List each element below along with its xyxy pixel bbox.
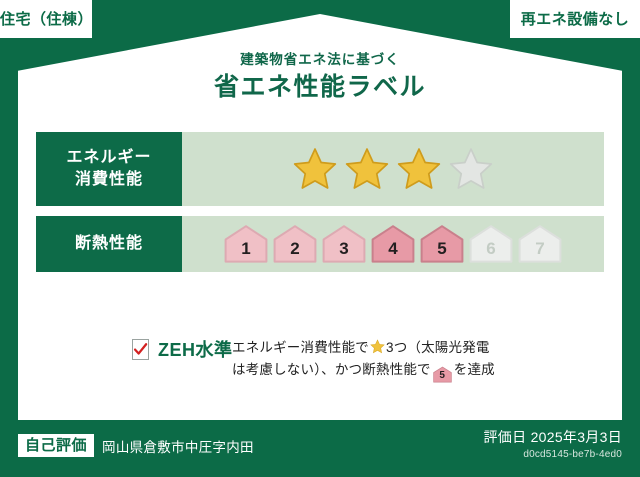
metric-rows: エネルギー 消費性能 断熱性能 1234567 bbox=[36, 132, 604, 282]
insulation-level-number: 7 bbox=[535, 240, 544, 264]
row-energy-value bbox=[182, 132, 604, 206]
insulation-level-1: 1 bbox=[224, 224, 268, 264]
row-insulation-value: 1234567 bbox=[182, 216, 604, 272]
row-energy-label-line2: 消費性能 bbox=[75, 169, 143, 191]
insulation-level-scale: 1234567 bbox=[224, 224, 562, 264]
insulation-level-7: 7 bbox=[518, 224, 562, 264]
row-insulation-label-line1: 断熱性能 bbox=[75, 233, 143, 255]
evaluation-date-value: 2025年3月3日 bbox=[531, 429, 622, 445]
check-icon bbox=[133, 342, 148, 357]
page-title: 省エネ性能ラベル bbox=[18, 74, 622, 102]
zeh-description: エネルギー消費性能で3つ（太陽光発電は考慮しない）、かつ断熱性能で5を達成 bbox=[232, 336, 495, 383]
zeh-section: ZEH水準 エネルギー消費性能で3つ（太陽光発電は考慮しない）、かつ断熱性能で5… bbox=[36, 336, 604, 383]
star-icon-filled bbox=[292, 146, 338, 192]
insulation-level-number: 3 bbox=[339, 240, 348, 264]
row-insulation-label: 断熱性能 bbox=[36, 216, 182, 272]
zeh-label: ZEH水準 bbox=[158, 336, 233, 362]
star-icon-inline bbox=[370, 339, 385, 354]
title-block: 建築物省エネ法に基づく 省エネ性能ラベル bbox=[18, 52, 622, 102]
zeh-desc-part1: エネルギー消費性能で bbox=[232, 340, 369, 355]
zeh-desc-part3: を達成 bbox=[454, 362, 495, 377]
badge-renewable-energy: 再エネ設備なし bbox=[510, 0, 640, 38]
title-subtitle: 建築物省エネ法に基づく bbox=[18, 52, 622, 68]
footer: 自己評価 岡山県倉敷市中圧字内田 評価日 2025年3月3日 d0cd5145-… bbox=[0, 420, 640, 477]
insulation-level-number: 2 bbox=[290, 240, 299, 264]
zeh-desc-part2: は考慮しない）、かつ断熱性能で bbox=[232, 362, 431, 377]
insulation-level-2: 2 bbox=[273, 224, 317, 264]
star-icon-empty bbox=[448, 146, 494, 192]
row-energy-consumption: エネルギー 消費性能 bbox=[36, 132, 604, 206]
insulation-level-5: 5 bbox=[420, 224, 464, 264]
insulation-level-number: 6 bbox=[486, 240, 495, 264]
evaluation-date-label: 評価日 bbox=[483, 429, 526, 445]
document-id: d0cd5145-be7b-4ed0 bbox=[483, 449, 622, 460]
evaluation-date: 評価日 2025年3月3日 bbox=[483, 428, 622, 446]
row-insulation: 断熱性能 1234567 bbox=[36, 216, 604, 272]
footer-right: 評価日 2025年3月3日 d0cd5145-be7b-4ed0 bbox=[483, 428, 622, 460]
property-address: 岡山県倉敷市中圧字内田 bbox=[102, 436, 254, 456]
badge-building-type: 住宅（住棟） bbox=[0, 0, 92, 38]
star-icon-filled bbox=[344, 146, 390, 192]
insulation-level-3: 3 bbox=[322, 224, 366, 264]
row-energy-label: エネルギー 消費性能 bbox=[36, 132, 182, 206]
zeh-desc-level: 5 bbox=[433, 366, 452, 386]
star-rating bbox=[292, 146, 494, 192]
footer-left: 自己評価 岡山県倉敷市中圧字内田 bbox=[18, 434, 254, 457]
row-energy-label-line1: エネルギー bbox=[66, 147, 151, 169]
zeh-checkbox[interactable] bbox=[132, 339, 149, 360]
star-icon-filled bbox=[396, 146, 442, 192]
energy-label-card: 住宅（住棟） 再エネ設備なし 建築物省エネ法に基づく 省エネ性能ラベル エネルギ… bbox=[0, 0, 640, 477]
zeh-check-group: ZEH水準 bbox=[36, 336, 232, 362]
zeh-desc-stars: 3つ（太陽光発電 bbox=[386, 340, 490, 355]
insulation-level-number: 5 bbox=[437, 240, 446, 264]
self-evaluation-badge: 自己評価 bbox=[18, 434, 94, 457]
insulation-level-4: 4 bbox=[371, 224, 415, 264]
insulation-level-number: 1 bbox=[241, 240, 250, 264]
house-icon-inline: 5 bbox=[433, 366, 452, 383]
insulation-level-6: 6 bbox=[469, 224, 513, 264]
insulation-level-number: 4 bbox=[388, 240, 397, 264]
